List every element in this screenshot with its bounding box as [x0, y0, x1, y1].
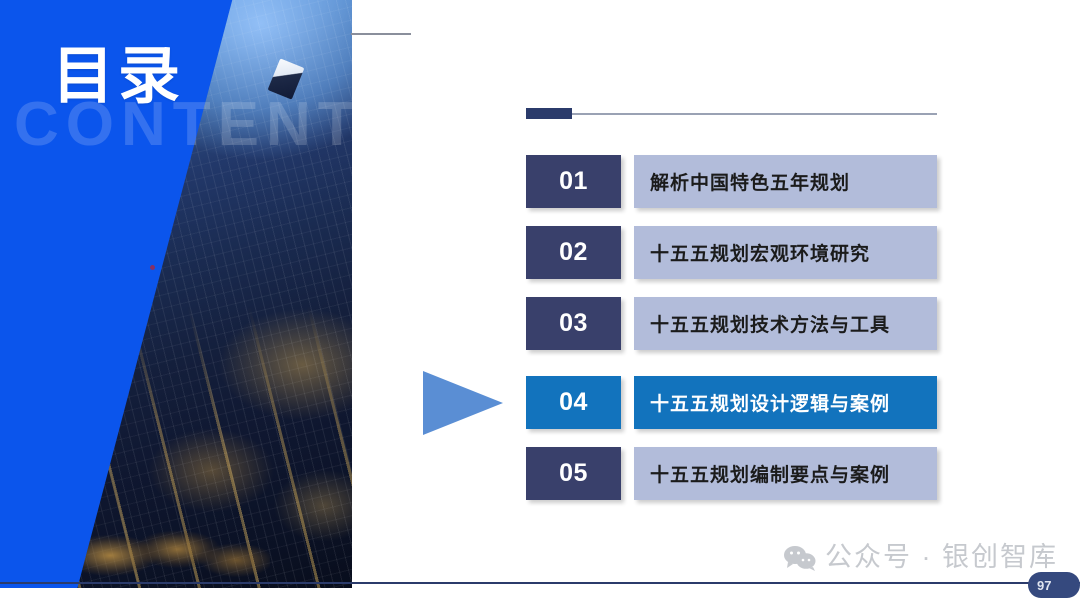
toc-number-box[interactable]: 04: [526, 376, 621, 429]
wechat-icon: [783, 545, 817, 571]
active-item-arrow-icon: [423, 371, 503, 435]
toc-number: 02: [559, 238, 588, 267]
toc-label: 十五五规划编制要点与案例: [634, 460, 890, 487]
header-divider-cap: [526, 108, 572, 119]
toc-number: 05: [559, 459, 588, 488]
footer-brand: 公众号 · 银创智库: [783, 544, 1058, 571]
toc-number-box[interactable]: 05: [526, 447, 621, 500]
toc-number-box[interactable]: 02: [526, 226, 621, 279]
page-number-badge: 97: [1028, 572, 1080, 598]
toc-label-box[interactable]: 十五五规划技术方法与工具: [634, 297, 937, 350]
toc-number: 01: [559, 167, 588, 196]
toc-list: 01 解析中国特色五年规划 02 十五五规划宏观环境研究 03 十五五规划技术方…: [0, 0, 1080, 608]
toc-label: 十五五规划宏观环境研究: [634, 239, 870, 266]
page-number: 97: [1028, 578, 1051, 593]
toc-label-box[interactable]: 十五五规划设计逻辑与案例: [634, 376, 937, 429]
top-decorative-rule: [351, 33, 411, 35]
toc-number: 04: [559, 388, 588, 417]
toc-label: 十五五规划设计逻辑与案例: [634, 389, 890, 416]
toc-label-box[interactable]: 解析中国特色五年规划: [634, 155, 937, 208]
toc-label-box[interactable]: 十五五规划宏观环境研究: [634, 226, 937, 279]
toc-label: 十五五规划技术方法与工具: [634, 310, 890, 337]
toc-label-box[interactable]: 十五五规划编制要点与案例: [634, 447, 937, 500]
footer-divider: [0, 582, 1080, 584]
toc-label: 解析中国特色五年规划: [634, 168, 850, 195]
toc-number: 03: [559, 309, 588, 338]
toc-number-box[interactable]: 03: [526, 297, 621, 350]
presentation-slide: CONTENT 目录 01 解析中国特色五年规划 02 十五五规划宏观环境研究: [0, 0, 1080, 608]
brand-label: 公众号 · 银创智库: [825, 544, 1058, 571]
toc-number-box[interactable]: 01: [526, 155, 621, 208]
